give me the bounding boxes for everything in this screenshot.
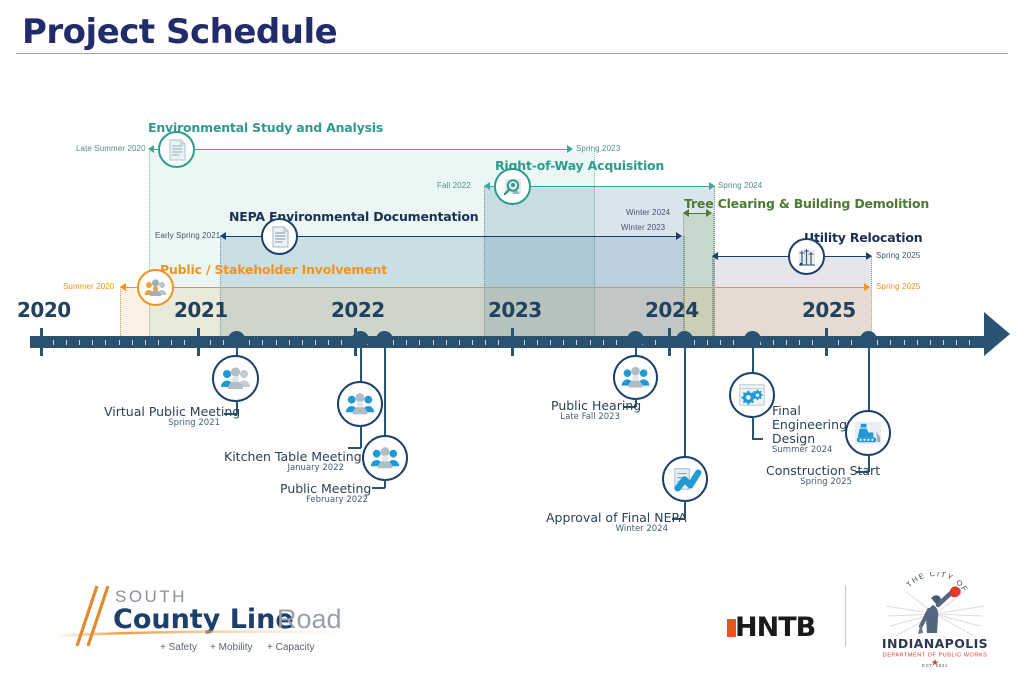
tick-month [550, 340, 551, 345]
tick-month [249, 340, 250, 345]
tick-month [904, 340, 905, 345]
indy-name: INDIANAPOLIS [882, 636, 988, 651]
milestone-stem-public-meeting [384, 341, 386, 436]
utility-pole-icon [788, 238, 825, 275]
tick-month [210, 340, 211, 345]
tick-month [733, 340, 734, 345]
arrow-right-environmental-study [567, 145, 573, 153]
tick-month [158, 340, 159, 345]
milestone-title: Public Hearing [551, 398, 641, 413]
phase-line-environmental-study [153, 149, 569, 150]
tick-month [132, 340, 133, 345]
milestone-label-construction-start: Construction Start Spring 2025 [766, 464, 852, 488]
year-label-2023: 2023 [488, 298, 542, 322]
tick-month [145, 340, 146, 345]
phase-line-tree-clearing [688, 213, 707, 214]
tick-month [79, 340, 80, 345]
milestone-label-virtual-public-meeting: Virtual Public Meeting Spring 2021 [104, 405, 220, 429]
milestone-date: Winter 2024 [546, 525, 668, 535]
milestone-stem-approval-final-nepa [684, 341, 686, 457]
tick-month [184, 340, 185, 345]
tick-month [930, 340, 931, 345]
arrow-right-utility-relocation [866, 252, 872, 260]
milestone-date: Spring 2021 [104, 419, 220, 429]
svg-text:+ Capacity: + Capacity [267, 642, 315, 653]
tick-month [956, 340, 957, 345]
phase-title-public-involvement: Public / Stakeholder Involvement [160, 262, 387, 277]
tick-month [877, 340, 878, 345]
arrow-right-right-of-way [709, 182, 715, 190]
page-title: Project Schedule [22, 12, 337, 52]
tick-month [537, 340, 538, 345]
tick-month [969, 340, 970, 345]
people-group-icon [337, 381, 383, 427]
logo-divider [845, 585, 846, 647]
milestone-date: February 2022 [280, 496, 368, 506]
svg-text:+ Safety: + Safety [160, 642, 197, 653]
tick-month [419, 340, 420, 345]
milestone-title-line3: Design [772, 431, 815, 446]
phase-end-utility-relocation: Spring 2025 [876, 251, 920, 260]
arrow-right-public-involvement [864, 283, 870, 291]
milestone-title: Construction Start [766, 463, 880, 478]
arrow-right-nepa [676, 232, 682, 240]
milestone-date: Spring 2025 [766, 478, 852, 488]
milestone-stem-final-engineering-design [752, 341, 754, 373]
tick-month [498, 340, 499, 345]
tick-month [472, 340, 473, 345]
tick-month [812, 340, 813, 345]
tick-month [655, 340, 656, 345]
phase-start-environmental-study: Late Summer 2020 [76, 144, 146, 153]
tick-month [105, 340, 106, 345]
tick-month [289, 340, 290, 345]
tick-month [262, 340, 263, 345]
people-group-icon [362, 435, 408, 481]
year-label-2020: 2020 [17, 298, 71, 322]
tick-month [66, 340, 67, 345]
milestone-title: Kitchen Table Meetings [224, 449, 368, 464]
milestone-label-approval-final-nepa: Approval of Final NEPA Winter 2024 [546, 511, 668, 535]
milestone-title: Virtual Public Meeting [104, 404, 240, 419]
tick-month [707, 340, 708, 345]
tick-month [92, 340, 93, 345]
tick-year-2025 [825, 328, 828, 356]
tick-month [302, 340, 303, 345]
phase-start-public-involvement: Summer 2020 [63, 282, 114, 291]
indy-dept: DEPARTMENT OF PUBLIC WORKS [883, 653, 988, 659]
milestone-elbow-final-engineering-design [752, 438, 763, 440]
timeline-axis-bar [30, 336, 990, 348]
tick-month [603, 340, 604, 345]
document-icon [158, 131, 195, 168]
tick-month [341, 340, 342, 345]
milestone-title-line1: Final [772, 403, 801, 418]
milestone-leader-kitchen-table-meetings [360, 425, 362, 448]
milestone-label-public-meeting: Public Meeting February 2022 [280, 482, 368, 506]
tick-month [433, 340, 434, 345]
tick-month [485, 340, 486, 345]
tick-year-2023 [511, 328, 514, 356]
phase-end-nepa: Winter 2023 [621, 223, 665, 232]
year-label-2021: 2021 [174, 298, 228, 322]
milestone-title: Approval of Final NEPA [546, 510, 687, 525]
tick-month [890, 340, 891, 345]
phase-end-environmental-study: Spring 2023 [576, 144, 620, 153]
project-schedule-graphic: Project Schedule Environmental Study and… [0, 0, 1024, 682]
tick-month [838, 340, 839, 345]
tick-month [616, 340, 617, 345]
bulldozer-icon [845, 410, 891, 456]
phase-line-public-involvement [125, 287, 866, 288]
tick-month [576, 340, 577, 345]
hntb-wordmark: HNTB [735, 612, 815, 643]
tick-year-2024 [668, 328, 671, 356]
tick-month [786, 340, 787, 345]
tick-month [943, 340, 944, 345]
milestone-label-kitchen-table-meetings: Kitchen Table Meetings January 2022 [224, 450, 344, 474]
milestone-title: Public Meeting [280, 481, 371, 496]
tick-month [720, 340, 721, 345]
magnifier-house-icon [494, 168, 531, 205]
tick-month [328, 340, 329, 345]
tick-month [851, 340, 852, 345]
tick-month [171, 340, 172, 345]
svg-text:+ Mobility: + Mobility [210, 642, 253, 653]
phase-title-tree-clearing: Tree Clearing & Building Demolition [684, 196, 929, 211]
tick-month [276, 340, 277, 345]
milestone-label-public-hearing: Public Hearing Late Fall 2023 [551, 399, 620, 423]
people-group-icon [137, 269, 174, 306]
checkmark-document-icon [662, 456, 708, 502]
phase-start-tree-clearing: Winter 2024 [626, 208, 670, 217]
gears-icon [729, 372, 775, 418]
tick-month [694, 340, 695, 345]
year-label-2025: 2025 [802, 298, 856, 322]
tick-month [119, 340, 120, 345]
phase-start-right-of-way: Fall 2022 [437, 181, 471, 190]
tick-month [799, 340, 800, 345]
tick-month [406, 340, 407, 345]
people-group-icon [212, 355, 259, 402]
tick-month [524, 340, 525, 345]
title-divider [16, 53, 1008, 54]
tick-month [773, 340, 774, 345]
arrow-right-tree-clearing [706, 209, 712, 217]
tick-month [223, 340, 224, 345]
svg-text:Road: Road [277, 604, 342, 634]
milestone-leader-final-engineering-design [752, 416, 754, 439]
indy-est: EST. 1821 [922, 663, 948, 668]
tick-month [53, 340, 54, 345]
tick-month [459, 340, 460, 345]
phase-end-public-involvement: Spring 2025 [876, 282, 920, 291]
milestone-leader-public-meeting [384, 479, 386, 488]
indianapolis-dpw-logo: THE CITY OF INDIANAPOLIS DEPARTMENT OF P… [876, 572, 994, 668]
tick-month [563, 340, 564, 345]
milestone-stem-construction-start [868, 341, 870, 411]
tick-year-2020 [40, 328, 43, 356]
phase-start-nepa: Early Spring 2021 [155, 231, 220, 240]
tick-month [393, 340, 394, 345]
milestone-stem-kitchen-table-meetings [360, 341, 362, 381]
tick-month [590, 340, 591, 345]
tick-year-2021 [197, 328, 200, 356]
hntb-logo: HNTB [727, 612, 815, 643]
milestone-title-line2: Engineering [772, 417, 847, 432]
milestone-date: Late Fall 2023 [551, 413, 620, 423]
year-label-2024: 2024 [645, 298, 699, 322]
tick-month [315, 340, 316, 345]
milestone-date: January 2022 [224, 464, 344, 474]
people-group-icon [613, 355, 658, 400]
timeline-arrow-head [984, 312, 1010, 356]
phase-end-right-of-way: Spring 2024 [718, 181, 762, 190]
document-icon [261, 218, 298, 255]
tick-month [446, 340, 447, 345]
south-county-line-road-logo: SOUTH County Line Road + Safety + Mobili… [55, 580, 345, 655]
tick-month [917, 340, 918, 345]
year-label-2022: 2022 [331, 298, 385, 322]
